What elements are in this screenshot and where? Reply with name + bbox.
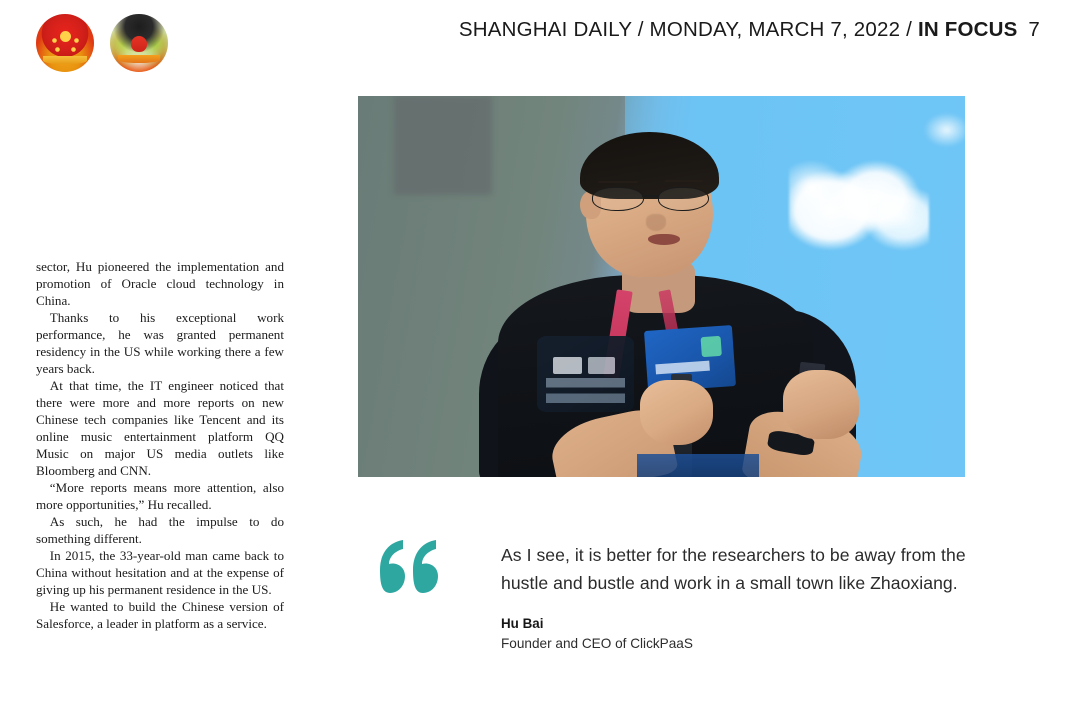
article-paragraph: Thanks to his exceptional work performan… [36, 309, 284, 377]
speaker-eyebrow-right [664, 180, 703, 182]
speaker-glasses [592, 187, 709, 211]
masthead-separator-1: / [638, 18, 644, 41]
article-paragraph: As such, he had the impulse to do someth… [36, 513, 284, 547]
page-number: 7 [1028, 18, 1040, 41]
speaker-hand-holding-microphone [640, 380, 713, 445]
article-photo [358, 96, 965, 477]
attribution-role: Founder and CEO of ClickPaaS [501, 634, 971, 653]
cppcc-emblem-icon [110, 14, 168, 72]
quotation-mark-icon [376, 540, 440, 598]
masthead-separator-2: / [906, 18, 912, 41]
section-name: IN FOCUS [918, 18, 1018, 41]
article-paragraph: He wanted to build the Chinese version o… [36, 598, 284, 632]
article-paragraph: sector, Hu pioneered the implementation … [36, 258, 284, 309]
glasses-lens-left [592, 187, 643, 211]
publication-date: MONDAY, MARCH 7, 2022 [650, 18, 901, 41]
article-paragraph: “More reports means more attention, also… [36, 479, 284, 513]
pull-quote-body: As I see, it is better for the researche… [501, 542, 971, 653]
article-body-column: sector, Hu pioneered the implementation … [36, 258, 284, 717]
speaker-tshirt-text [546, 378, 625, 405]
publication-name: SHANGHAI DAILY [459, 18, 632, 41]
pull-quote-text: As I see, it is better for the researche… [501, 542, 971, 597]
masthead-headline: SHANGHAI DAILY / MONDAY, MARCH 7, 2022 /… [459, 18, 1040, 42]
pull-quote-attribution: Hu Bai Founder and CEO of ClickPaaS [501, 615, 971, 653]
photo-speaker-figure [358, 96, 965, 477]
stage-podium [637, 454, 758, 477]
masthead: SHANGHAI DAILY / MONDAY, MARCH 7, 2022 /… [0, 0, 1079, 96]
glasses-bridge [642, 195, 658, 197]
national-emblem-of-china-icon [36, 14, 94, 72]
speaker-hand-right [783, 370, 859, 439]
article-paragraph: At that time, the IT engineer noticed th… [36, 377, 284, 479]
attribution-name: Hu Bai [501, 615, 971, 633]
speaker-nose [646, 214, 667, 231]
speaker-eyebrow-left [598, 181, 638, 183]
article-paragraph: In 2015, the 33-year-old man came back t… [36, 547, 284, 598]
glasses-lens-right [658, 187, 709, 211]
emblem-group [36, 14, 168, 72]
